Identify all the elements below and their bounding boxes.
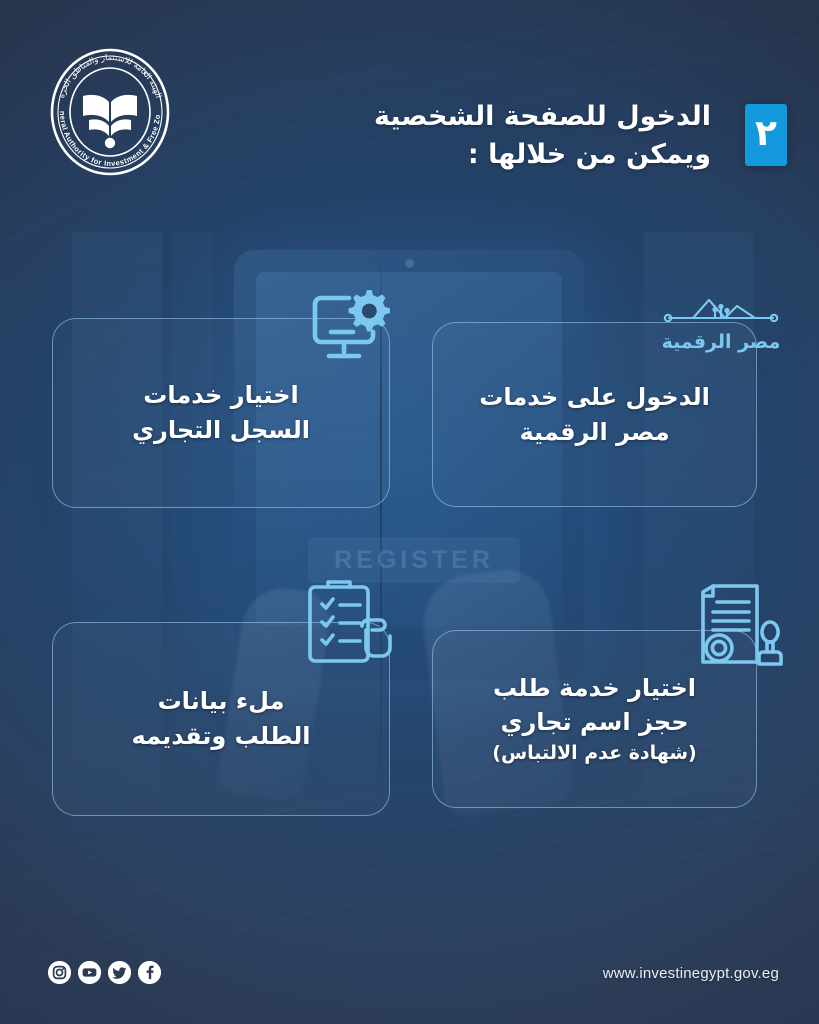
page-title: الدخول للصفحة الشخصية ويمكن من خلالها :	[241, 98, 711, 175]
card-top-left-line-1: اختيار خدمات	[143, 381, 298, 409]
header: الهيئة العامة للاستثمار والمناطق الحرة G…	[0, 0, 819, 210]
register-watermark: REGISTER	[308, 537, 520, 583]
card-top-right-line-1: الدخول على خدمات	[479, 383, 710, 411]
social-links	[48, 961, 161, 984]
page-title-line-2: ويمكن من خلالها :	[241, 136, 711, 174]
youtube-icon[interactable]	[78, 961, 101, 984]
instagram-glyph	[48, 961, 71, 984]
card-bottom-right[interactable]: اختيار خدمة طلب حجز اسم تجاري (شهادة عدم…	[432, 630, 757, 808]
card-bottom-right-line-2: حجز اسم تجاري	[500, 708, 688, 736]
card-bottom-right-subtext: (شهادة عدم الالتباس)	[492, 740, 696, 767]
step-number-badge: ٢	[745, 104, 787, 166]
infographic-poster: REGISTER الهيئة العامة للاستثمار والمناط…	[0, 0, 819, 1024]
card-top-right[interactable]: الدخول على خدمات مصر الرقمية	[432, 322, 757, 507]
card-bottom-right-line-1: اختيار خدمة طلب	[493, 674, 696, 702]
twitter-icon[interactable]	[108, 961, 131, 984]
card-bottom-left-line-2: الطلب وتقديمه	[132, 722, 311, 750]
gafi-seal-logo: الهيئة العامة للاستثمار والمناطق الحرة G…	[40, 42, 180, 182]
facebook-icon[interactable]	[138, 961, 161, 984]
page-title-line-1: الدخول للصفحة الشخصية	[374, 101, 711, 132]
card-top-right-line-2: مصر الرقمية	[519, 418, 669, 446]
youtube-glyph	[78, 961, 101, 984]
svg-text:الهيئة العامة للاستثمار والمنا: الهيئة العامة للاستثمار والمناطق الحرة	[56, 52, 164, 99]
facebook-glyph	[138, 961, 161, 984]
card-bottom-left-line-1: ملء بيانات	[158, 687, 285, 715]
card-top-left-text: اختيار خدمات السجل التجاري	[132, 378, 310, 447]
card-top-left-line-2: السجل التجاري	[132, 416, 310, 444]
card-top-left[interactable]: اختيار خدمات السجل التجاري	[52, 318, 390, 508]
card-bottom-right-text: اختيار خدمة طلب حجز اسم تجاري (شهادة عدم…	[492, 671, 696, 767]
card-bottom-left[interactable]: ملء بيانات الطلب وتقديمه	[52, 622, 390, 816]
website-url[interactable]: www.investinegypt.gov.eg	[603, 965, 779, 982]
card-top-right-text: الدخول على خدمات مصر الرقمية	[479, 380, 710, 449]
twitter-glyph	[108, 961, 131, 984]
footer: www.investinegypt.gov.eg	[0, 928, 819, 1024]
step-number-value: ٢	[755, 116, 777, 152]
instagram-icon[interactable]	[48, 961, 71, 984]
card-bottom-left-text: ملء بيانات الطلب وتقديمه	[132, 684, 311, 753]
register-watermark-label: REGISTER	[334, 546, 494, 575]
